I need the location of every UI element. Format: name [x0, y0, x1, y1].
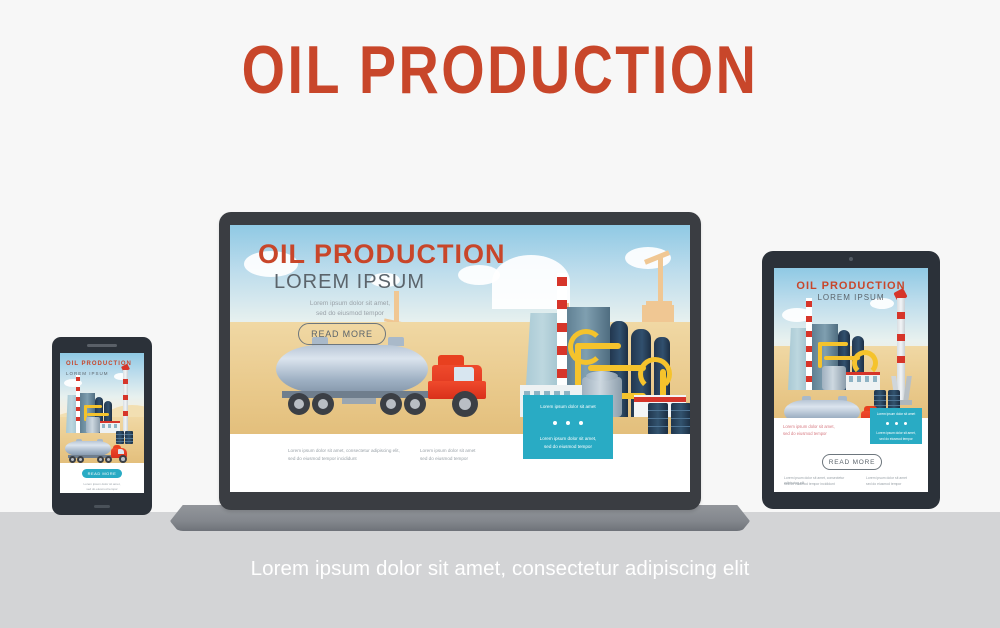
footer-col2-line1: Lorem ipsum dolor sit amet	[420, 448, 530, 455]
teal-card-bottom-line1: Lorem ipsum dolor sit amet,	[523, 436, 613, 443]
teal-card-top-text: Lorem ipsum dolor sit amet	[870, 412, 922, 417]
steel-tank-lid	[586, 371, 618, 381]
pipe	[818, 342, 822, 368]
pipe-elbow	[638, 357, 672, 391]
screen-title: OIL PRODUCTION	[258, 239, 506, 270]
screen-title: OIL PRODUCTION	[774, 280, 928, 292]
building-stripe	[846, 372, 880, 375]
teal-info-card[interactable]: Lorem ipsum dolor sit amet Lorem ipsum d…	[523, 395, 613, 459]
laptop-screen[interactable]: OIL PRODUCTION LOREM IPSUM Lorem ipsum d…	[230, 225, 690, 492]
building-stripe	[100, 421, 120, 423]
read-more-button[interactable]: READ MORE	[298, 323, 386, 345]
screen-title: OIL PRODUCTION	[66, 361, 132, 367]
read-more-button[interactable]: READ MORE	[822, 454, 882, 470]
camera-icon	[849, 257, 853, 261]
teal-card-bottom-line1: Lorem ipsum dolor sit amet,	[870, 431, 922, 436]
screen-subtitle: LOREM IPSUM	[66, 371, 109, 376]
oil-derrick-icon	[638, 245, 674, 327]
pipe	[818, 342, 848, 346]
phone-screen[interactable]: OIL PRODUCTION LOREM IPSUM READ MORE Lor…	[60, 353, 144, 493]
screen-lead-line1: Lorem ipsum dolor sit amet,	[285, 299, 415, 309]
teal-info-card[interactable]: Lorem ipsum dolor sit amet Lorem ipsum d…	[870, 408, 922, 444]
steel-tank	[822, 366, 846, 390]
speaker-icon	[87, 344, 117, 347]
laptop-device[interactable]: OIL PRODUCTION LOREM IPSUM Lorem ipsum d…	[219, 212, 701, 510]
drilling-tower	[120, 365, 132, 441]
tanker-truck	[63, 439, 131, 465]
pipe-elbow	[568, 329, 604, 365]
read-more-button[interactable]: READ MORE	[82, 469, 122, 478]
screen-subtitle: LOREM IPSUM	[274, 271, 425, 294]
steel-tank	[86, 417, 100, 433]
footer-line1: Lorem ipsum dolor sit amet,	[60, 482, 144, 487]
screen-subtitle: LOREM IPSUM	[774, 293, 928, 302]
footer-col1-line2: sed do eiusmod tempor incididunt	[784, 482, 850, 487]
footer-col1-line2: sed do eiusmod tempor incididunt	[288, 456, 408, 463]
footer-col2-line2: sed do eiusmod tempor	[866, 482, 926, 487]
teal-card-bottom-line2: sed do eiusmod tempor	[870, 437, 922, 442]
pipe	[87, 413, 109, 416]
footer-line2: sed do eiusmod tempor	[60, 487, 144, 492]
poster-caption: Lorem ipsum dolor sit amet, consectetur …	[0, 557, 1000, 581]
poster-stage: OIL PRODUCTION Lorem ipsum dolor sit ame…	[0, 0, 1000, 628]
footer-col2-line2: sed do eiusmod tempor	[420, 456, 530, 463]
striped-chimney	[806, 298, 812, 390]
dot-indicator[interactable]	[870, 422, 922, 425]
phone-device[interactable]: OIL PRODUCTION LOREM IPSUM READ MORE Lor…	[52, 337, 152, 515]
side-text-line1: Lorem ipsum dolor sit amet,	[783, 424, 863, 430]
tablet-device[interactable]: OIL PRODUCTION LOREM IPSUM Lorem ipsum d…	[762, 251, 940, 509]
content-panel	[230, 434, 690, 492]
dot-indicator[interactable]	[523, 421, 613, 425]
oil-barrel	[648, 403, 668, 435]
side-text-line2: sed do eiusmod tempor	[783, 431, 863, 437]
page-title: OIL PRODUCTION	[90, 36, 910, 104]
tanker-truck	[268, 337, 488, 415]
footer-col1-line1: Lorem ipsum dolor sit amet, consectetur …	[288, 448, 408, 455]
screen-lead-line2: sed do eiusmod tempor	[285, 309, 415, 319]
home-button[interactable]	[94, 505, 110, 508]
drilling-tower	[892, 290, 912, 406]
teal-card-bottom-line2: sed do eiusmod tempor	[523, 444, 613, 451]
oil-barrel	[671, 403, 690, 435]
footer-col2-line1: Lorem ipsum dolor sit amet	[866, 476, 926, 481]
striped-chimney	[76, 375, 80, 433]
building-stripe	[634, 397, 686, 402]
tablet-screen[interactable]: OIL PRODUCTION LOREM IPSUM Lorem ipsum d…	[774, 268, 928, 492]
teal-card-top-text: Lorem ipsum dolor sit amet	[523, 404, 613, 411]
